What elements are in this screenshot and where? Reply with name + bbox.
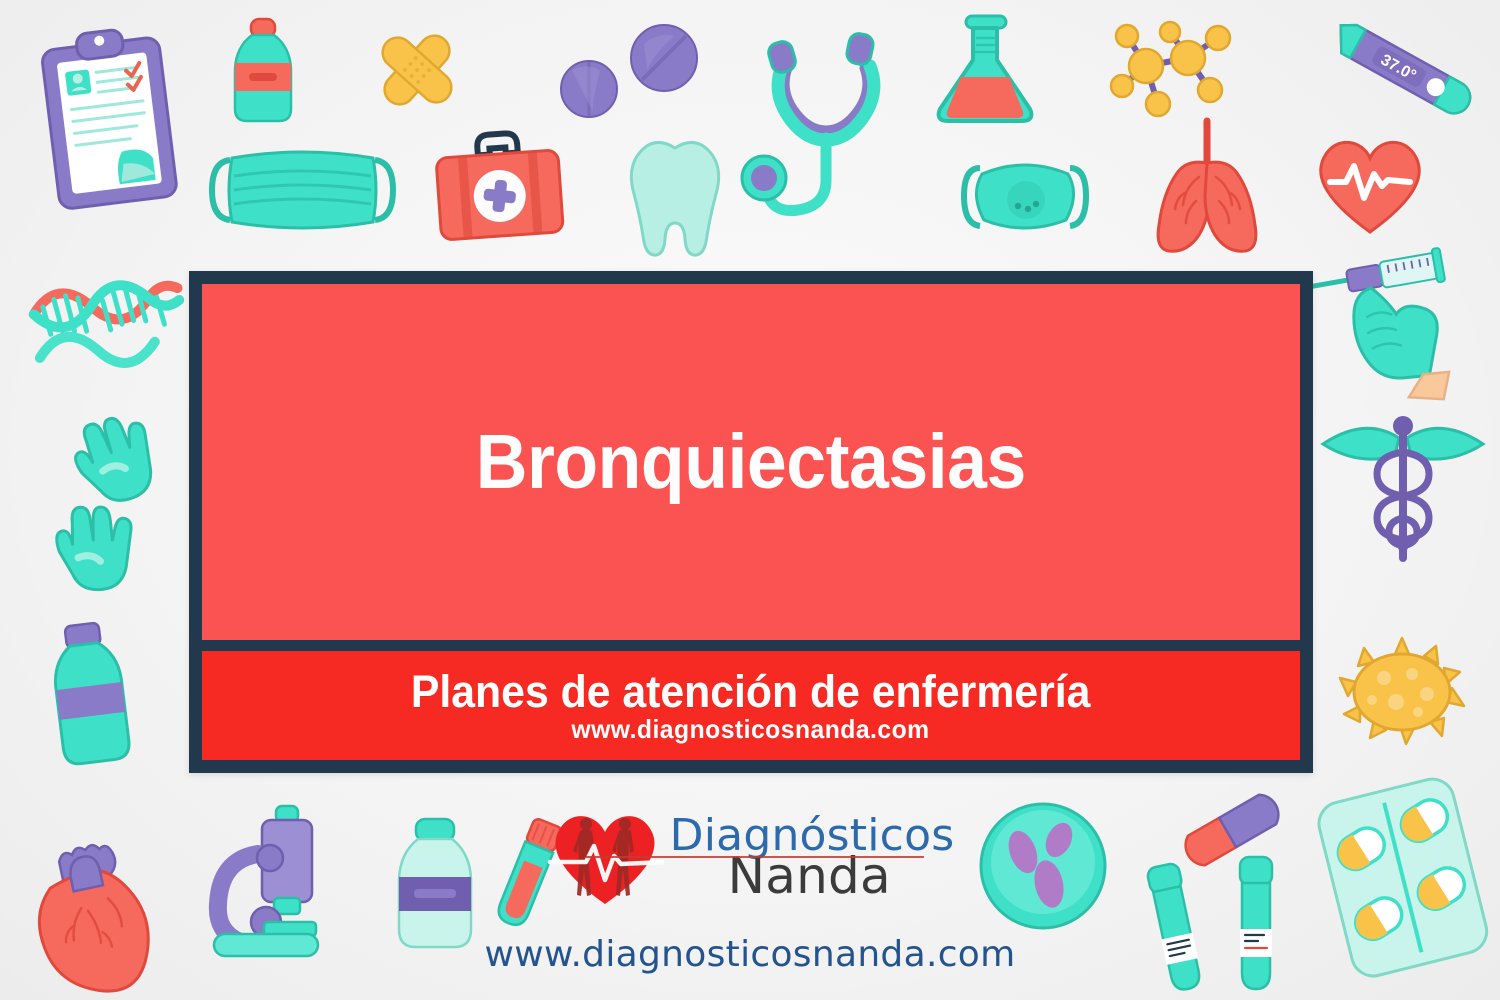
glove-second-icon <box>45 500 143 595</box>
surgical-mask-icon <box>210 140 395 240</box>
tooth-icon <box>620 132 730 257</box>
subtitle-url: www.diagnosticosnanda.com <box>572 716 930 742</box>
n95-mask-icon <box>960 150 1090 245</box>
title-banner: Bronquiectasias <box>202 284 1300 640</box>
pill-tablet-small-icon <box>558 58 620 120</box>
svg-text:37.0°: 37.0° <box>1378 52 1419 85</box>
lungs-icon <box>1140 115 1275 255</box>
heart-pulse-icon <box>1310 130 1430 240</box>
footer-url[interactable]: www.diagnosticosnanda.com <box>0 934 1500 975</box>
logo-underline <box>586 856 924 858</box>
bandage-icon <box>372 25 462 115</box>
clipboard-icon <box>40 25 180 215</box>
subtitle: Planes de atención de enfermería <box>411 669 1091 715</box>
caduceus-icon <box>1315 408 1490 573</box>
card-divider <box>202 640 1300 651</box>
first-aid-kit-icon <box>432 128 567 243</box>
subtitle-banner: Planes de atención de enfermería www.dia… <box>202 651 1300 760</box>
glove-icon <box>62 415 162 510</box>
page-title: Bronquiectasias <box>476 424 1026 501</box>
thermometer-icon: 37.0° <box>1305 14 1485 139</box>
medicine-bottle-icon <box>218 15 308 135</box>
logo-word-secondary: Nanda <box>728 853 955 901</box>
title-card: Bronquiectasias Planes de atención de en… <box>189 271 1313 773</box>
dna-icon <box>24 270 194 380</box>
molecule-icon <box>1110 14 1240 132</box>
poster-canvas: 37.0° <box>0 0 1500 1000</box>
pill-tablet-large-icon <box>628 22 700 94</box>
virus-icon <box>1332 630 1472 750</box>
erlenmeyer-flask-icon <box>930 14 1040 126</box>
vaccine-bottle-icon <box>40 620 140 770</box>
stethoscope-icon <box>740 20 900 240</box>
syringe-hand-icon <box>1308 242 1488 407</box>
